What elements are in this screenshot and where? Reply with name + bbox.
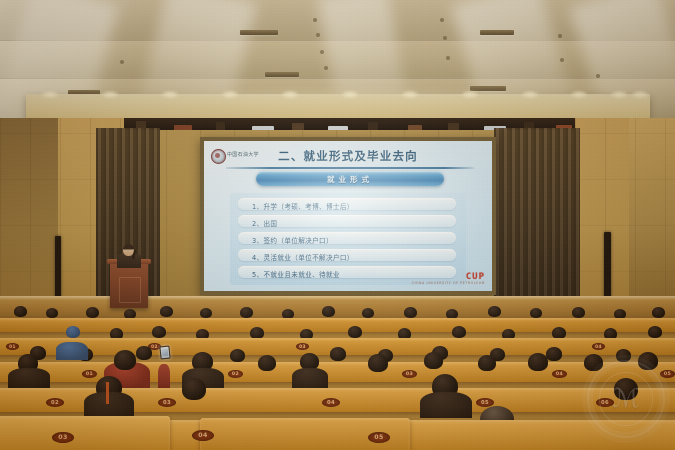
audience-head xyxy=(114,350,136,370)
seat-number: 02 xyxy=(46,398,64,407)
seat-number: 01 xyxy=(6,343,19,350)
seat-row xyxy=(0,318,675,332)
title-underline xyxy=(226,167,474,169)
seat-number: 01 xyxy=(82,370,97,378)
list-item: 2、出国 xyxy=(238,215,456,227)
ceiling-vent xyxy=(240,30,278,35)
wall-recess xyxy=(55,236,61,302)
section-banner: 就业形式 xyxy=(256,171,444,186)
list-item: 4、灵活就业（单位不解决户口） xyxy=(238,249,456,261)
slide-title: 二、就业形式及毕业去向 xyxy=(204,148,492,164)
list-item: 3、签约（单位解决户口） xyxy=(238,232,456,244)
aisle-marker xyxy=(106,382,109,404)
audience-head xyxy=(182,378,206,400)
seat-row xyxy=(0,416,170,450)
auditorium-photo: 中国石油大学 二、就业形式及毕业去向 就业形式 1、升学（考硕、考博、博士后） … xyxy=(0,0,675,450)
wooden-podium xyxy=(110,263,148,308)
smartphone xyxy=(159,346,170,360)
watermark-glyph: ℳ xyxy=(599,372,653,426)
list-item-label: 4、灵活就业（单位不解决户口） xyxy=(252,252,354,262)
section-banner-label: 就业形式 xyxy=(256,174,444,185)
list-item-label: 1、升学（考硕、考博、博士后） xyxy=(252,201,354,211)
seat-number: 03 xyxy=(402,370,417,378)
seat-number: 02 xyxy=(228,370,243,378)
seat-number: 03 xyxy=(158,398,176,407)
cup-logo-subtext: CHINA UNIVERSITY OF PETROLEUM xyxy=(412,281,485,285)
slide-header: 中国石油大学 二、就业形式及毕业去向 xyxy=(204,145,492,167)
seat-number: 05 xyxy=(368,432,390,443)
speaker-torso xyxy=(117,254,141,268)
list-item: 1、升学（考硕、考博、博士后） xyxy=(238,198,456,210)
ceiling-vent xyxy=(265,72,299,77)
projection-screen: 中国石油大学 二、就业形式及毕业去向 就业形式 1、升学（考硕、考博、博士后） … xyxy=(200,137,496,295)
seat-number: 05 xyxy=(660,370,675,378)
seat-number: 03 xyxy=(296,343,309,350)
list-item-label: 3、签约（单位解决户口） xyxy=(252,235,333,245)
wall-shadow xyxy=(629,118,675,318)
seat-number: 04 xyxy=(322,398,340,407)
list-item-label: 5、不就业且未就业、待就业 xyxy=(252,269,340,279)
ceiling-vent xyxy=(480,30,514,35)
seat-number: 03 xyxy=(52,432,74,443)
presentation-slide: 中国石油大学 二、就业形式及毕业去向 就业形式 1、升学（考硕、考博、博士后） … xyxy=(204,141,492,291)
photo-watermark: ℳ xyxy=(587,360,665,438)
wall-shadow xyxy=(0,118,58,318)
podium-front-panel xyxy=(119,277,141,303)
list-item-label: 2、出国 xyxy=(252,218,277,228)
audience-seating: 01 02 03 04 xyxy=(0,306,675,450)
wall-recess xyxy=(604,232,611,300)
seat-number: 04 xyxy=(552,370,567,378)
seat-number: 04 xyxy=(592,343,605,350)
cup-logo: CUP CHINA UNIVERSITY OF PETROLEUM xyxy=(412,272,485,285)
seat-number: 04 xyxy=(192,430,214,441)
stage-curtain-right xyxy=(494,128,580,313)
